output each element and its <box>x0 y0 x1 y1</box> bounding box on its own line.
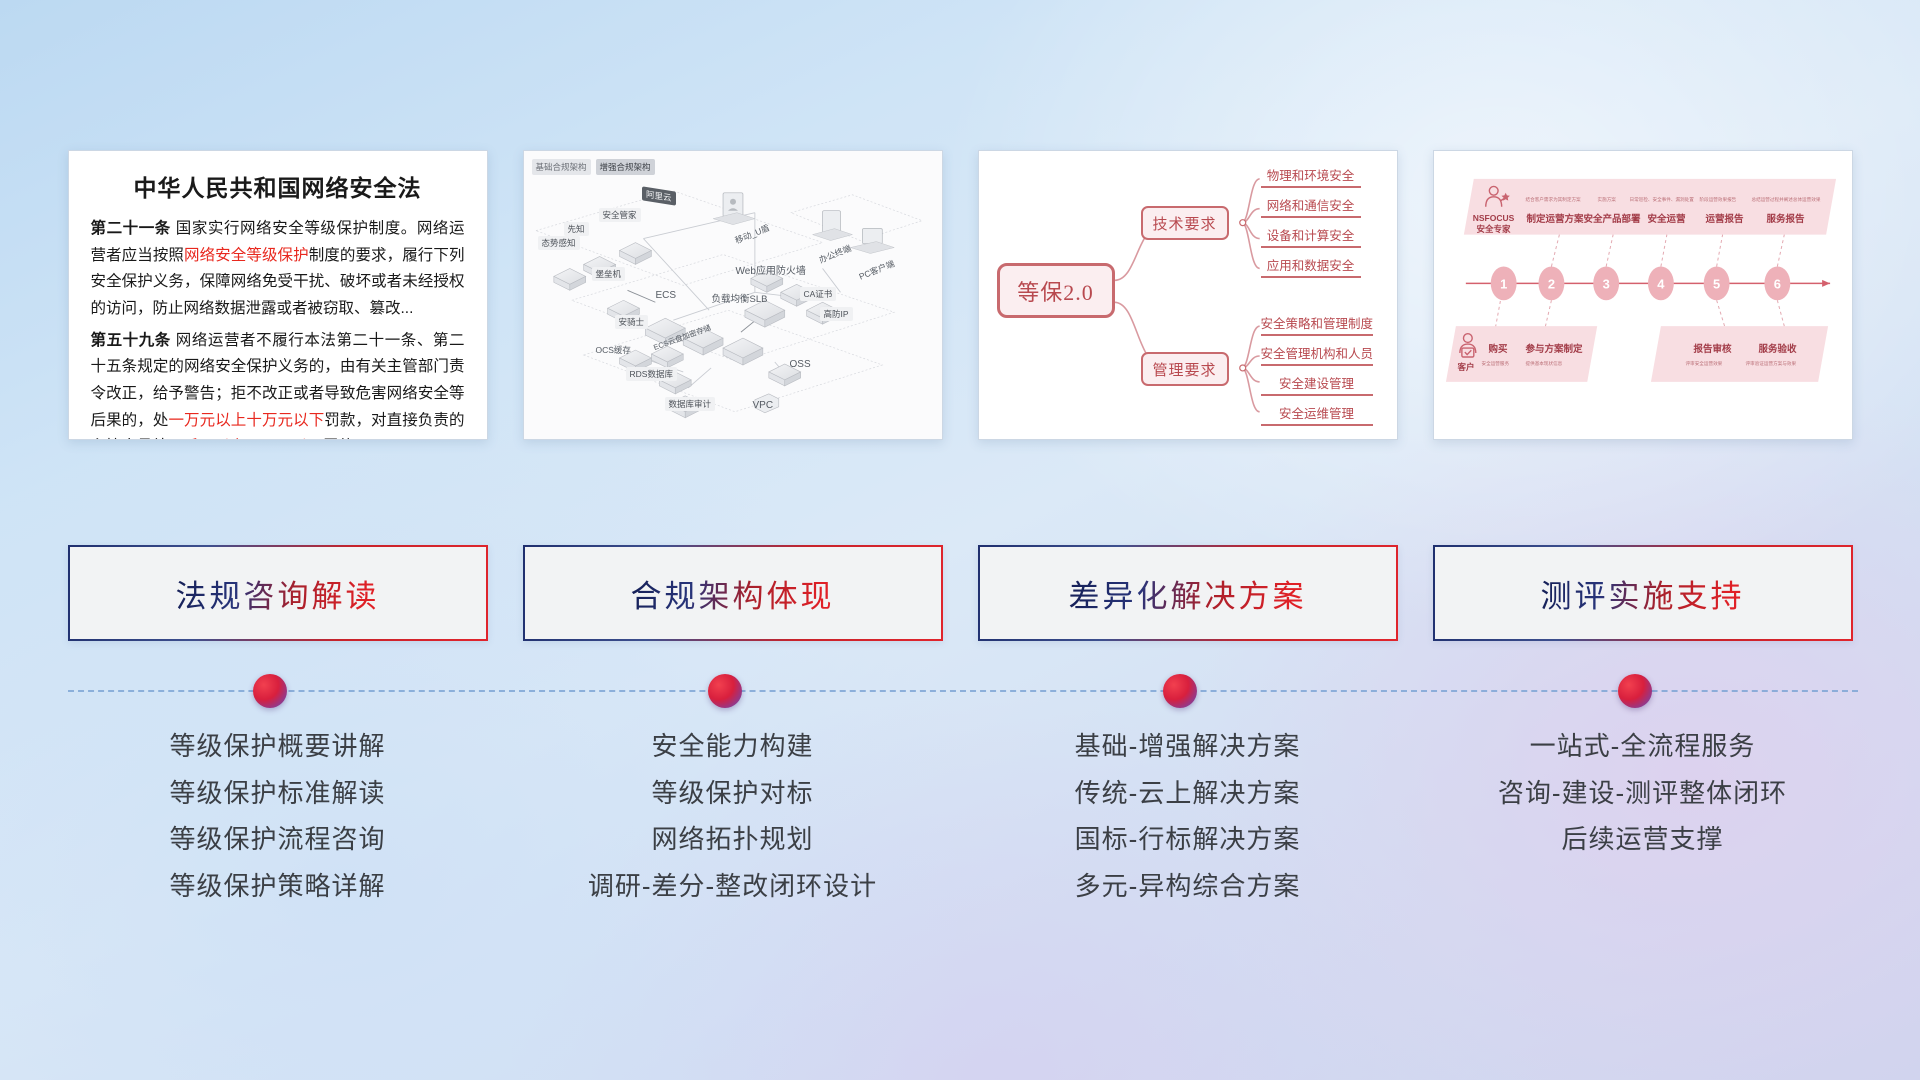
list-item: 调研-差分-整改闭环设计 <box>588 870 877 903</box>
service-list-evaluation-support: 一站式-全流程服务 咨询-建设-测评整体闭环 后续运营支撑 <box>1433 730 1853 902</box>
svg-text:5: 5 <box>1713 276 1720 291</box>
flow-customer-label: 客户 <box>1458 361 1475 373</box>
flow-top-sub-6: 总结运营过程并阐述总体运营效果 <box>1752 197 1821 203</box>
flow-top-label-6: 服务报告 <box>1767 211 1805 225</box>
timeline-dashed-line <box>68 690 1858 692</box>
flow-top-label-4: 安全运营 <box>1648 211 1686 225</box>
list-item: 后续运营支撑 <box>1561 823 1723 856</box>
arch-label-web-waf: Web应用防火墙 <box>732 261 810 278</box>
svg-text:3: 3 <box>1602 276 1609 291</box>
mindmap-branch-management[interactable]: 管理要求 <box>1141 352 1229 386</box>
flow-diagram-svg: 1 2 3 4 5 6 <box>1434 151 1852 440</box>
arch-label-rds-database: RDS数据库 <box>626 367 677 381</box>
card-cybersecurity-law[interactable]: 中华人民共和国网络安全法 第二十一条 国家实行网络安全等级保护制度。网络运营者应… <box>68 150 488 440</box>
flow-bot-sub-1: 安全运营服务 <box>1482 361 1510 367</box>
timeline-dot-1[interactable] <box>253 674 287 708</box>
timeline-dot-4[interactable] <box>1618 674 1652 708</box>
arch-label-bastion-host: 堡垒机 <box>592 267 626 281</box>
timeline-dot-2[interactable] <box>708 674 742 708</box>
mindmap-leaf-construction-mgmt[interactable]: 安全建设管理 <box>1261 373 1373 396</box>
list-item: 一站式-全流程服务 <box>1530 730 1756 763</box>
arch-label-situation-awareness: 态势感知 <box>538 236 580 250</box>
arch-label-ocs-cache: OCS缓存 <box>592 343 635 357</box>
flow-top-label-2: 制定运营方案 <box>1527 211 1584 225</box>
flow-bot-label-6: 服务验收 <box>1759 341 1797 355</box>
arch-label-slb: 负载均衡SLB <box>708 290 772 306</box>
flow-top-sub-4: 日常巡检、安全事件、漏洞处置 <box>1630 197 1694 203</box>
title-box-regulation-consulting[interactable]: 法规咨询解读 <box>68 545 488 641</box>
preview-card-row: 中华人民共和国网络安全法 第二十一条 国家实行网络安全等级保护制度。网络运营者应… <box>0 150 1920 450</box>
law-article-59-number: 第五十九条 <box>91 332 171 349</box>
mindmap-branch-technical[interactable]: 技术要求 <box>1141 206 1229 240</box>
service-list-differentiated-solution: 基础-增强解决方案 传统-云上解决方案 国标-行标解决方案 多元-异构综合方案 <box>978 730 1398 902</box>
svg-text:4: 4 <box>1657 276 1665 291</box>
list-item: 咨询-建设-测评整体闭环 <box>1498 777 1787 810</box>
flow-bot-sub-6: 评审验证运营方案与效果 <box>1746 361 1797 367</box>
flow-bot-label-5: 报告审核 <box>1694 341 1732 355</box>
title-box-differentiated-solution[interactable]: 差异化解决方案 <box>978 545 1398 641</box>
law-article-59-seg-3: 五千元以上五万元以下 <box>168 438 323 440</box>
list-item: 等级保护标准解读 <box>169 777 385 810</box>
flow-bot-sub-2: 提供基本现状信息 <box>1526 361 1563 367</box>
law-article-21-seg-1: 网络安全等级保护 <box>184 247 309 264</box>
card-nsfocus-service-flow[interactable]: 1 2 3 4 5 6 NSFOCUS <box>1433 150 1853 440</box>
flow-top-sub-2: 结合客户需求为其制定方案 <box>1526 197 1581 203</box>
list-item: 安全能力构建 <box>651 730 813 763</box>
flow-bot-label-2: 参与方案制定 <box>1526 341 1583 355</box>
card-dengbao-mindmap[interactable]: 等保2.0 技术要求 管理要求 物理和环境安全 网络和通信安全 设备和计算安全 … <box>978 150 1398 440</box>
arch-label-security-butler: 安全管家 <box>599 208 641 222</box>
mindmap-leaf-org-personnel[interactable]: 安全管理机构和人员 <box>1261 343 1373 366</box>
flow-top-label-5: 运营报告 <box>1706 211 1744 225</box>
timeline-dot-3[interactable] <box>1163 674 1197 708</box>
arch-label-ca-certificate: CA证书 <box>800 287 837 301</box>
list-item: 等级保护对标 <box>651 777 813 810</box>
service-list-row: 等级保护概要讲解 等级保护标准解读 等级保护流程咨询 等级保护策略详解 安全能力… <box>0 730 1920 902</box>
title-box-compliance-architecture[interactable]: 合规架构体现 <box>523 545 943 641</box>
mindmap-leaf-ops-mgmt[interactable]: 安全运维管理 <box>1261 403 1373 426</box>
title-text-evaluation-support: 测评实施支持 <box>1541 571 1745 616</box>
arch-label-anqishi: 安骑士 <box>615 315 649 329</box>
title-box-evaluation-support[interactable]: 测评实施支持 <box>1433 545 1853 641</box>
tab-enhanced-compliance[interactable]: 增强合规架构 <box>596 159 655 175</box>
svg-text:2: 2 <box>1547 276 1554 291</box>
arch-label-xianzhi: 先知 <box>564 222 589 236</box>
law-article-59: 第五十九条 网络运营者不履行本法第二十一条、第二十五条规定的网络安全保护义务的，… <box>91 328 465 440</box>
svg-text:6: 6 <box>1773 276 1780 291</box>
flow-top-label-3: 安全产品部署 <box>1584 211 1641 225</box>
list-item: 传统-云上解决方案 <box>1075 777 1301 810</box>
arch-label-ecs: ECS <box>652 289 681 302</box>
list-item: 等级保护概要讲解 <box>169 730 385 763</box>
arch-label-vpc: VPC <box>749 399 778 412</box>
service-list-regulation-consulting: 等级保护概要讲解 等级保护标准解读 等级保护流程咨询 等级保护策略详解 <box>68 730 488 902</box>
flow-top-sub-3: 实施方案 <box>1598 197 1616 203</box>
flow-brand-line2: 安全专家 <box>1476 224 1510 234</box>
list-item: 等级保护策略详解 <box>169 870 385 903</box>
law-article-59-seg-1: 一万元以上十万元以下 <box>168 412 324 429</box>
list-item: 等级保护流程咨询 <box>169 823 385 856</box>
list-item: 基础-增强解决方案 <box>1075 730 1301 763</box>
title-text-regulation-consulting: 法规咨询解读 <box>176 571 380 616</box>
title-text-differentiated-solution: 差异化解决方案 <box>1069 571 1307 616</box>
list-item: 国标-行标解决方案 <box>1075 823 1301 856</box>
arch-label-anti-ddos-ip: 高防IP <box>820 307 853 321</box>
tab-basic-compliance[interactable]: 基础合规架构 <box>532 159 591 175</box>
mindmap-leaf-physical-env[interactable]: 物理和环境安全 <box>1261 165 1361 188</box>
flow-brand-nsfocus: NSFOCUS 安全专家 <box>1464 213 1524 234</box>
list-item: 多元-异构综合方案 <box>1075 870 1301 903</box>
flow-top-sub-5: 阶段运营效果报告 <box>1700 197 1737 203</box>
list-item: 网络拓扑规划 <box>651 823 813 856</box>
mindmap-leaf-app-data[interactable]: 应用和数据安全 <box>1261 255 1361 278</box>
flow-bot-sub-5: 评审安全运营效果 <box>1686 361 1723 367</box>
flow-brand-line1: NSFOCUS <box>1473 213 1515 223</box>
flow-bot-label-1: 购买 <box>1489 341 1508 355</box>
title-box-row: 法规咨询解读 合规架构体现 差异化解决方案 测评实施支持 <box>0 545 1920 645</box>
mindmap-root-node[interactable]: 等保2.0 <box>997 263 1115 318</box>
arch-label-oss: OSS <box>786 358 815 371</box>
law-article-21: 第二十一条 国家实行网络安全等级保护制度。网络运营者应当按照网络安全等级保护制度… <box>91 216 465 323</box>
title-text-compliance-architecture: 合规架构体现 <box>631 571 835 616</box>
law-article-21-number: 第二十一条 <box>91 220 171 237</box>
mindmap-leaf-policy-system[interactable]: 安全策略和管理制度 <box>1261 313 1373 336</box>
mindmap-leaf-device-compute[interactable]: 设备和计算安全 <box>1261 225 1361 248</box>
mindmap-leaf-network-comm[interactable]: 网络和通信安全 <box>1261 195 1361 218</box>
law-title: 中华人民共和国网络安全法 <box>91 169 465 203</box>
card-cloud-architecture[interactable]: 基础合规架构 增强合规架构 <box>523 150 943 440</box>
architecture-tabs[interactable]: 基础合规架构 增强合规架构 <box>532 159 655 175</box>
svg-text:1: 1 <box>1500 276 1507 291</box>
service-list-compliance-architecture: 安全能力构建 等级保护对标 网络拓扑规划 调研-差分-整改闭环设计 <box>523 730 943 902</box>
law-article-59-seg-4: 罚款。 <box>323 438 370 440</box>
arch-label-db-audit: 数据库审计 <box>665 397 716 411</box>
